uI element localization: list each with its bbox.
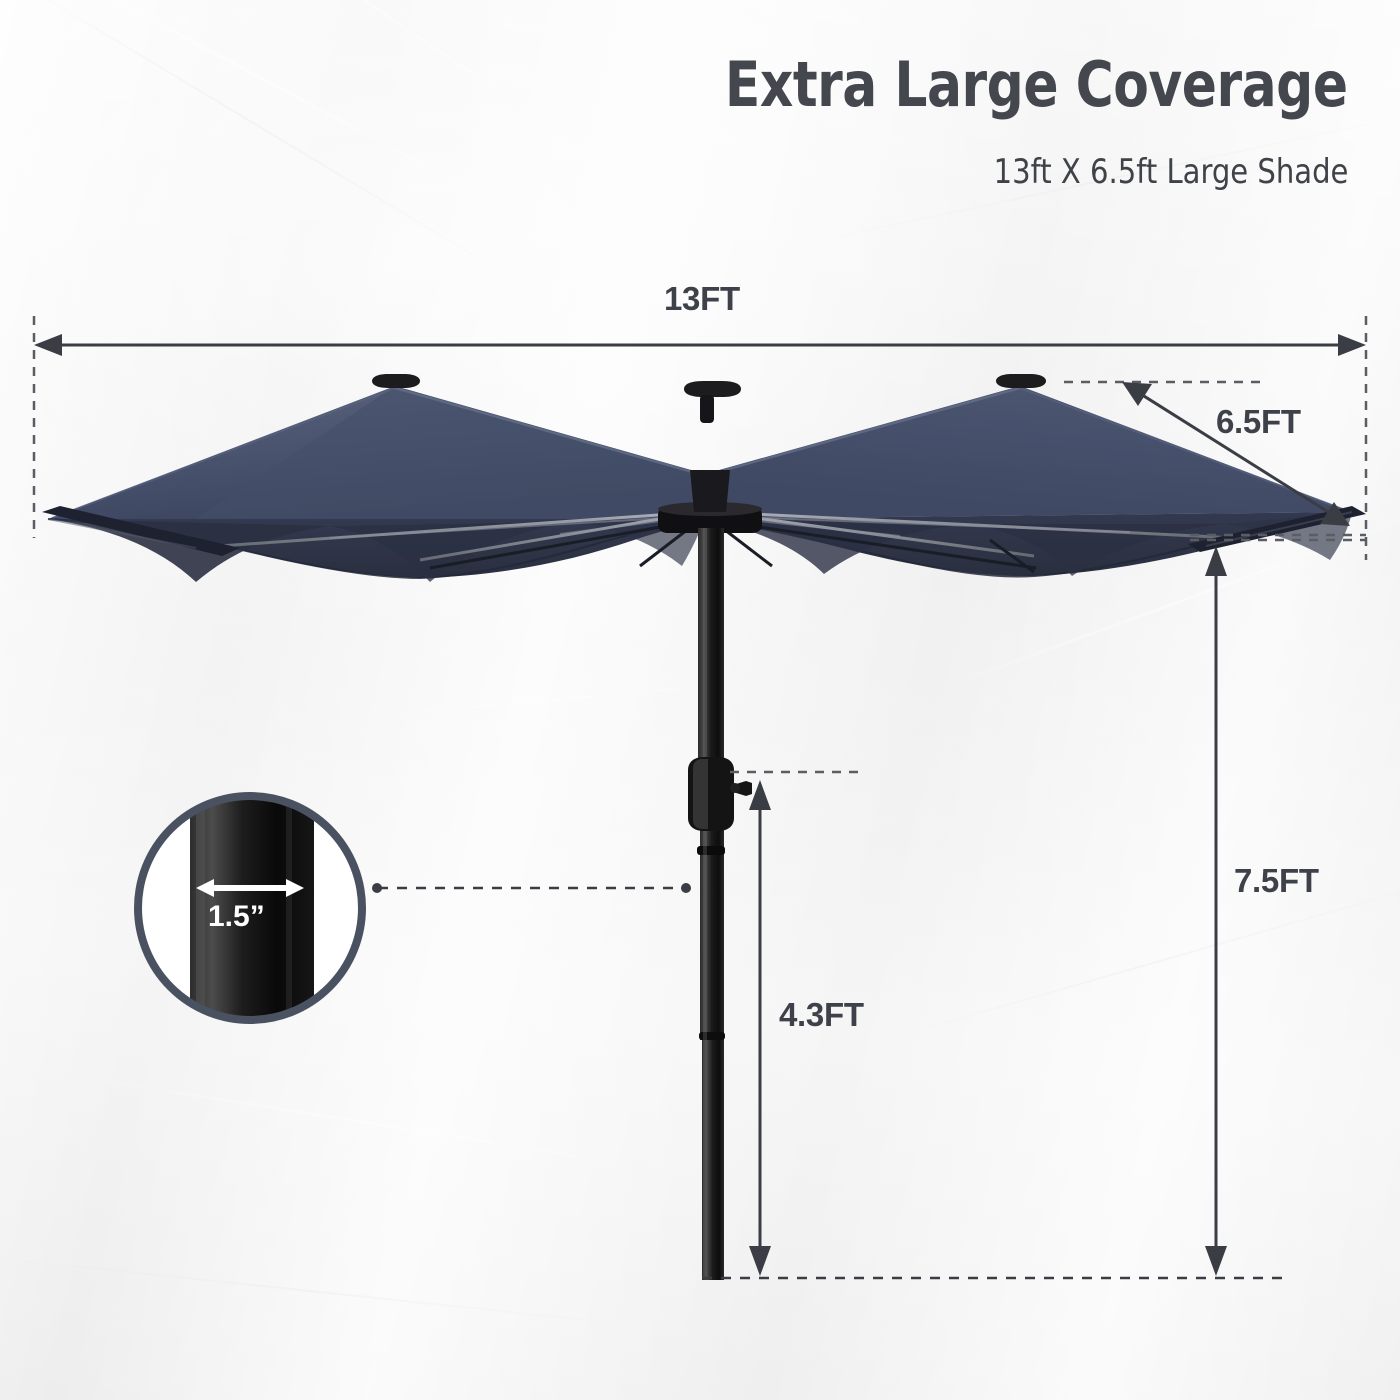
page-subtitle: 13ft X 6.5ft Large Shade bbox=[993, 152, 1348, 192]
inset-diameter-label: 1.5” bbox=[208, 900, 265, 934]
page-title: Extra Large Coverage bbox=[725, 48, 1348, 121]
infographic-canvas: Extra Large Coverage 13ft X 6.5ft Large … bbox=[0, 0, 1400, 1400]
umbrella-illustration bbox=[0, 0, 1400, 1400]
dimension-label-height: 7.5FT bbox=[1234, 862, 1319, 900]
dimension-label-depth: 6.5FT bbox=[1216, 403, 1301, 441]
dimension-label-clearance: 4.3FT bbox=[779, 996, 864, 1034]
dimension-label-width: 13FT bbox=[664, 280, 740, 318]
